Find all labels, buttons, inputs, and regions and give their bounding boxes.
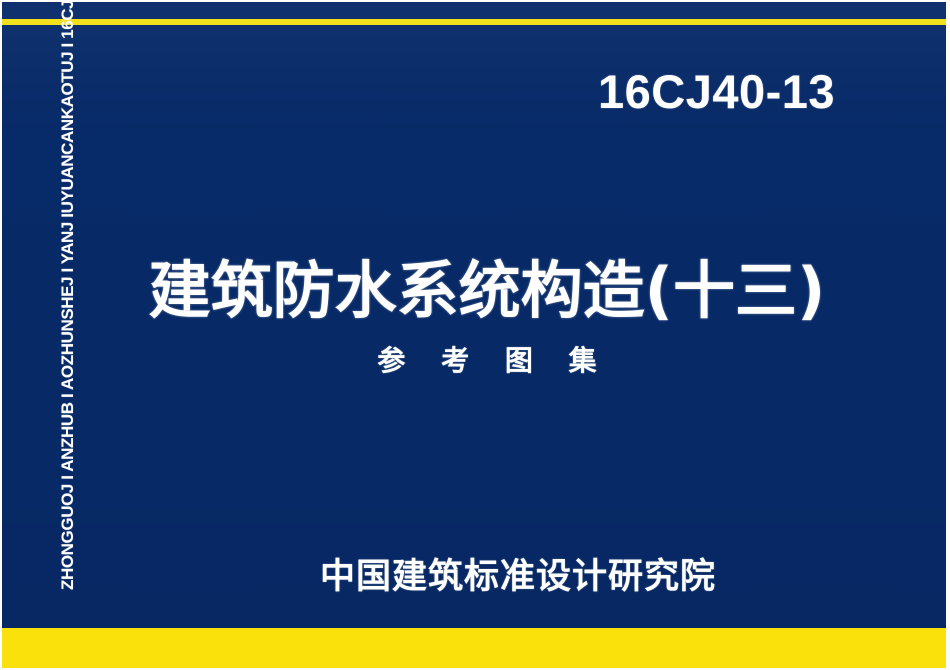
page-title: 建筑防水系统构造(十三)	[0, 258, 950, 325]
top-accent-rule	[2, 19, 946, 25]
bottom-accent-band	[2, 628, 946, 668]
title-block: 建筑防水系统构造(十三) 参 考 图 集	[0, 258, 950, 379]
book-cover: ZHONGGUOJ I ANZHUB I AOZHUNSHEJ I YANJ I…	[0, 0, 950, 670]
publisher-name: 中国建筑标准设计研究院	[0, 548, 950, 599]
atlas-code: 16CJ40-13	[598, 68, 898, 115]
page-subtitle: 参 考 图 集	[0, 339, 950, 379]
